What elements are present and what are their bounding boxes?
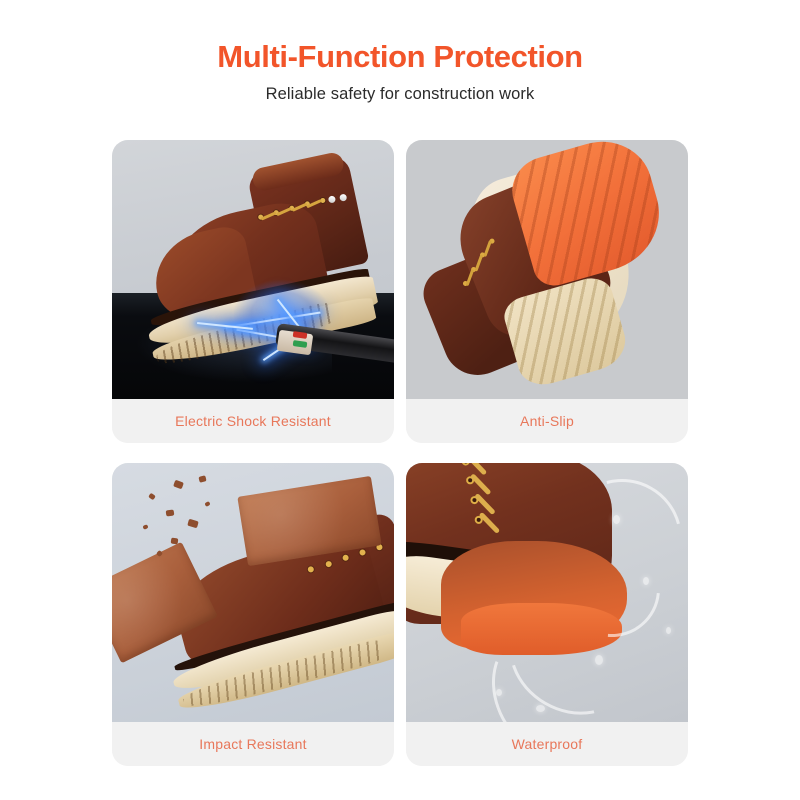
brick-debris <box>199 475 207 483</box>
feature-image-anti-slip <box>406 140 688 399</box>
feature-caption: Electric Shock Resistant <box>112 399 394 443</box>
brick-debris <box>187 519 199 528</box>
boot-eyelet-row <box>445 463 545 557</box>
page-subtitle: Reliable safety for construction work <box>0 85 800 104</box>
brick-debris <box>173 480 184 490</box>
feature-grid-page: Multi-Function Protection Reliable safet… <box>0 0 800 800</box>
brick-debris <box>148 493 156 501</box>
boot-illustration <box>406 140 688 399</box>
brick-debris <box>171 538 179 545</box>
feature-image-impact-resistant <box>112 463 394 722</box>
page-title: Multi-Function Protection <box>0 40 800 74</box>
water-droplet <box>536 705 545 712</box>
page-header: Multi-Function Protection Reliable safet… <box>0 0 800 104</box>
water-droplet <box>666 627 671 634</box>
feature-card-electric-shock-resistant[interactable]: Electric Shock Resistant <box>112 140 394 443</box>
feature-caption: Waterproof <box>406 722 688 766</box>
feature-card-anti-slip[interactable]: Anti-Slip <box>406 140 688 443</box>
feature-card-grid: Electric Shock Resistant <box>112 140 688 766</box>
feature-image-waterproof <box>406 463 688 722</box>
brick-debris <box>142 524 148 530</box>
water-droplet <box>643 577 649 585</box>
feature-card-impact-resistant[interactable]: Impact Resistant <box>112 463 394 766</box>
feature-caption: Anti-Slip <box>406 399 688 443</box>
feature-caption: Impact Resistant <box>112 722 394 766</box>
feature-card-waterproof[interactable]: Waterproof <box>406 463 688 766</box>
boot-eyelet-row <box>253 188 339 239</box>
brick-debris <box>165 509 174 516</box>
feature-image-electric-shock-resistant <box>112 140 394 399</box>
brick-debris <box>204 501 210 507</box>
